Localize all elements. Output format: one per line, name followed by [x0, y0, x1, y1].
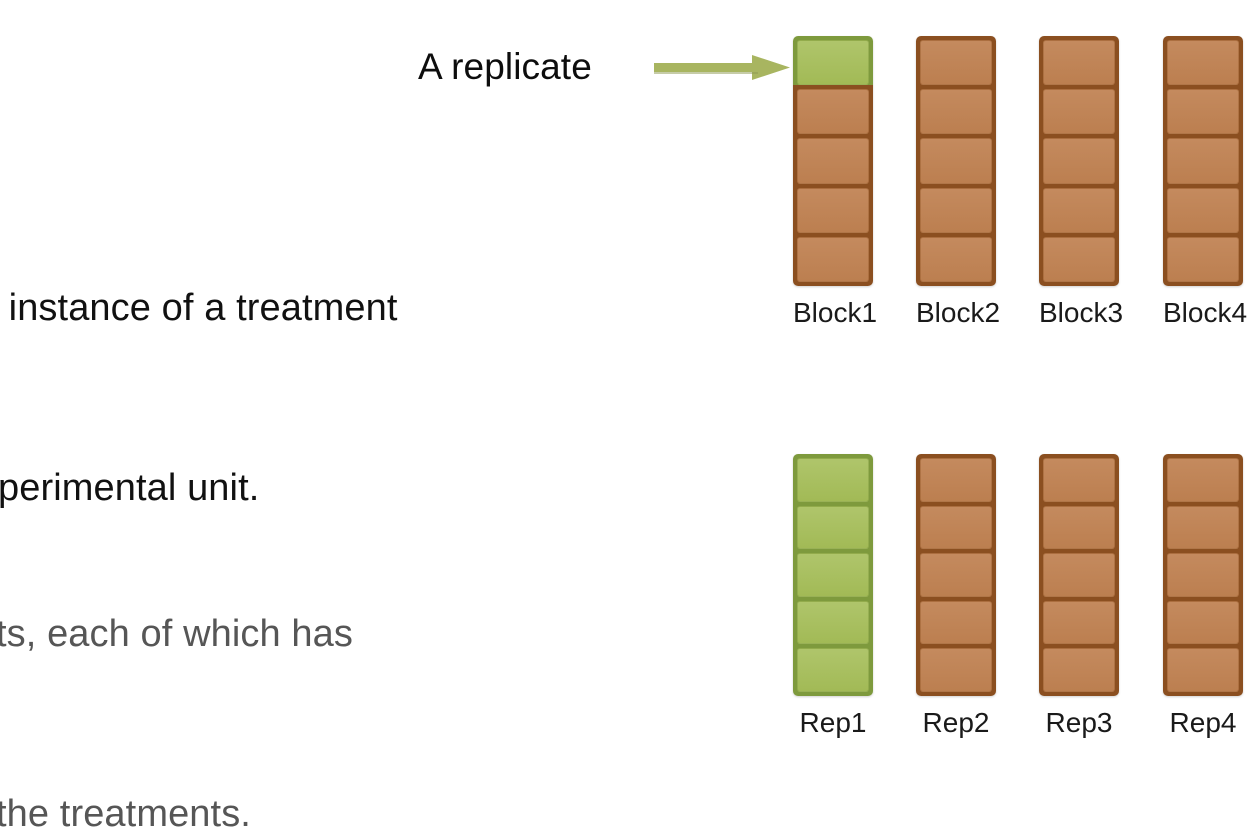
rep-cell[interactable] — [1167, 601, 1239, 645]
paragraph-bottom-line-1: ts, each of which has — [0, 604, 353, 664]
block-cell-highlighted[interactable] — [797, 40, 869, 85]
block-column-3-frame — [1039, 36, 1119, 286]
block-column-1[interactable] — [793, 36, 873, 286]
block-cell[interactable] — [920, 237, 992, 282]
rep-column-3-frame — [1039, 454, 1119, 696]
block-cell[interactable] — [1043, 40, 1115, 85]
rep-cell-highlighted[interactable] — [797, 458, 869, 502]
rep-cell[interactable] — [1043, 458, 1115, 502]
block-cell[interactable] — [1043, 89, 1115, 134]
block-cell[interactable] — [1167, 237, 1239, 282]
block-cell[interactable] — [1043, 237, 1115, 282]
slide-canvas: A replicate instance of a treatment peri… — [0, 0, 1260, 840]
block-column-2-frame — [916, 36, 996, 286]
block-cell[interactable] — [797, 138, 869, 183]
block-label-4: Block4 — [1163, 294, 1243, 332]
rep-cell-highlighted[interactable] — [797, 648, 869, 692]
block-column-2[interactable] — [916, 36, 996, 286]
rep-label-4: Rep4 — [1163, 704, 1243, 742]
block-cell[interactable] — [1167, 138, 1239, 183]
block-label-1: Block1 — [793, 294, 873, 332]
rep-cell[interactable] — [1043, 553, 1115, 597]
block-cell[interactable] — [797, 89, 869, 134]
rep-cell[interactable] — [920, 458, 992, 502]
rep-cell[interactable] — [920, 553, 992, 597]
rep-cell[interactable] — [1167, 506, 1239, 550]
paragraph-block-definition: ts, each of which has the treatments. — [0, 484, 353, 840]
rep-cell-highlighted[interactable] — [797, 601, 869, 645]
rep-column-3[interactable] — [1039, 454, 1119, 696]
rep-cell[interactable] — [1167, 553, 1239, 597]
rep-cell[interactable] — [1167, 458, 1239, 502]
rep-label-1: Rep1 — [793, 704, 873, 742]
paragraph-bottom-line-2: the treatments. — [0, 784, 353, 840]
block-cell[interactable] — [1167, 40, 1239, 85]
block-cell[interactable] — [797, 237, 869, 282]
block-column-4-frame — [1163, 36, 1243, 286]
rep-cell-highlighted[interactable] — [797, 506, 869, 550]
block-cell[interactable] — [797, 188, 869, 233]
block-cell[interactable] — [1043, 138, 1115, 183]
rep-column-4-frame — [1163, 454, 1243, 696]
block-cell[interactable] — [1167, 188, 1239, 233]
rep-column-1[interactable] — [793, 454, 873, 696]
rep-column-2-frame — [916, 454, 996, 696]
rep-cell[interactable] — [1043, 648, 1115, 692]
rep-cell[interactable] — [920, 601, 992, 645]
replicate-callout-label: A replicate — [418, 44, 592, 90]
rep-column-4[interactable] — [1163, 454, 1243, 696]
block-column-3[interactable] — [1039, 36, 1119, 286]
block-column-4[interactable] — [1163, 36, 1243, 286]
rep-column-1-frame — [793, 454, 873, 696]
rep-cell[interactable] — [1167, 648, 1239, 692]
rep-cell[interactable] — [1043, 601, 1115, 645]
paragraph-top-line-1: instance of a treatment — [0, 278, 398, 338]
block-label-3: Block3 — [1039, 294, 1119, 332]
block-cell[interactable] — [920, 188, 992, 233]
rep-cell[interactable] — [920, 648, 992, 692]
block-cell[interactable] — [1043, 188, 1115, 233]
rep-column-2[interactable] — [916, 454, 996, 696]
rep-cell[interactable] — [920, 506, 992, 550]
block-cell[interactable] — [920, 89, 992, 134]
rep-label-2: Rep2 — [916, 704, 996, 742]
block-cell[interactable] — [1167, 89, 1239, 134]
block-cell[interactable] — [920, 138, 992, 183]
right-arrow-icon — [652, 52, 794, 84]
block-cell[interactable] — [920, 40, 992, 85]
block-column-1-frame — [793, 36, 873, 286]
rep-cell-highlighted[interactable] — [797, 553, 869, 597]
rep-cell[interactable] — [1043, 506, 1115, 550]
rep-label-3: Rep3 — [1039, 704, 1119, 742]
block-label-2: Block2 — [916, 294, 996, 332]
